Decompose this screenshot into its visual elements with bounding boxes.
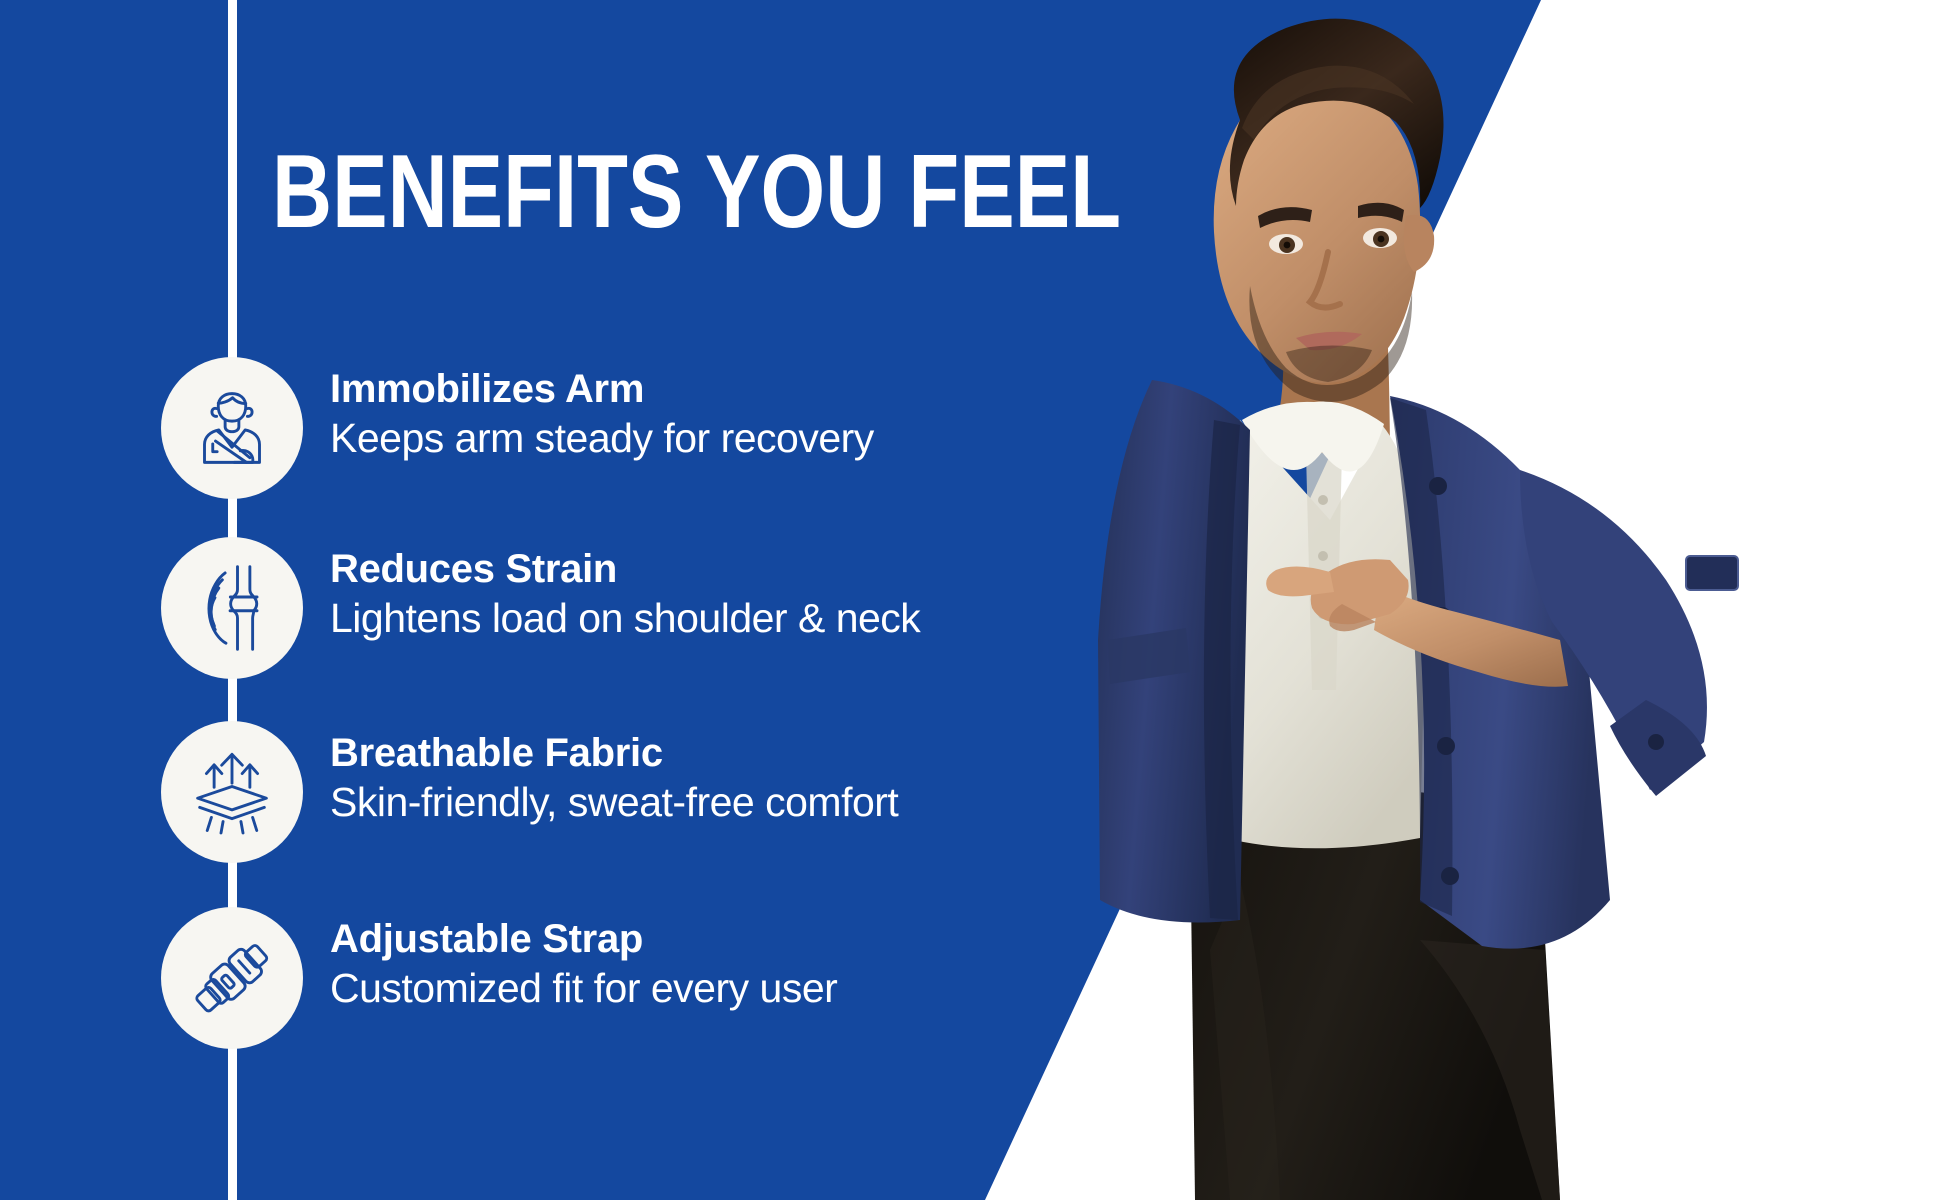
arm-sling-person-icon (161, 357, 303, 499)
benefit-text: Immobilizes Arm Keeps arm steady for rec… (330, 366, 980, 463)
benefit-title: Breathable Fabric (330, 730, 980, 777)
benefit-subtitle: Lightens load on shoulder & neck (330, 593, 980, 643)
joint-muscle-icon (161, 537, 303, 679)
benefit-subtitle: Customized fit for every user (330, 963, 980, 1013)
benefit-text: Reduces Strain Lightens load on shoulder… (330, 546, 980, 643)
benefit-title: Reduces Strain (330, 546, 980, 593)
benefit-text: Breathable Fabric Skin-friendly, sweat-f… (330, 730, 980, 827)
benefits-banner: BENEFITS YOU FEEL Immobil (0, 0, 1940, 1200)
model-photo (1090, 0, 1940, 1200)
benefit-item-immobilizes-arm[interactable]: Immobilizes Arm Keeps arm steady for rec… (0, 352, 1000, 502)
benefit-title: Adjustable Strap (330, 916, 980, 963)
benefit-item-breathable-fabric[interactable]: Breathable Fabric Skin-friendly, sweat-f… (0, 716, 1000, 866)
benefit-item-adjustable-strap[interactable]: Adjustable Strap Customized fit for ever… (0, 902, 1000, 1052)
breathable-fabric-icon (161, 721, 303, 863)
strap-buckle-icon (161, 907, 303, 1049)
benefit-text: Adjustable Strap Customized fit for ever… (330, 916, 980, 1013)
benefit-subtitle: Skin-friendly, sweat-free comfort (330, 777, 980, 827)
benefit-subtitle: Keeps arm steady for recovery (330, 413, 980, 463)
benefit-title: Immobilizes Arm (330, 366, 980, 413)
benefits-list: Immobilizes Arm Keeps arm steady for rec… (0, 0, 1000, 1200)
benefit-item-reduces-strain[interactable]: Reduces Strain Lightens load on shoulder… (0, 532, 1000, 682)
